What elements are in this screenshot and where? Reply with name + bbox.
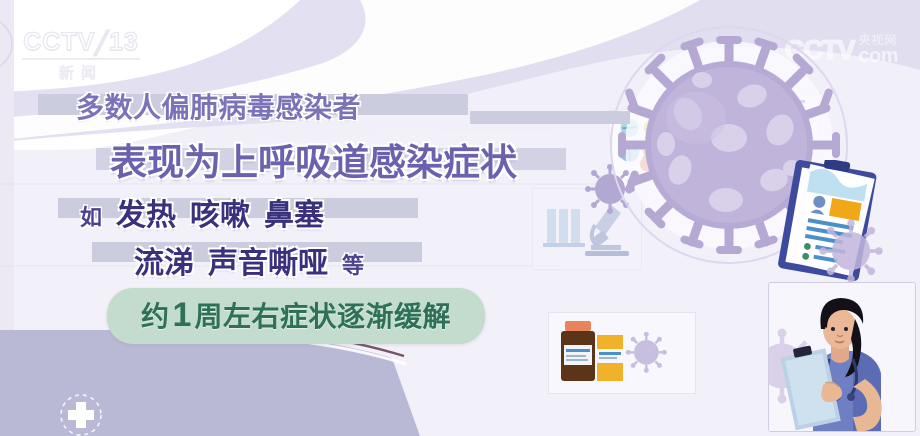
symptom-item-cough: 咳嗽 [190, 190, 250, 234]
symptom-suffix: 等 [342, 248, 364, 280]
cctv-channel-name: 新闻 [18, 62, 144, 83]
doctor-portrait-card [768, 282, 916, 432]
headline-line-2: 表现为上呼吸道感染症状 [110, 132, 600, 186]
recovery-banner: 约 1 周左右症状逐渐缓解 [107, 288, 485, 344]
small-virus-particle [818, 218, 884, 284]
headline-block: 多数人偏肺病毒感染者 表现为上呼吸道感染症状 [0, 86, 600, 186]
symptom-item-runny-nose: 流涕 [134, 238, 194, 282]
banner-suffix: 周左右症状逐渐缓解 [194, 295, 451, 335]
symptom-prefix: 如 [80, 200, 102, 232]
medicine-bottle-icon [549, 313, 695, 393]
headline-line-1: 多数人偏肺病毒感染者 [76, 86, 600, 126]
broadcast-graphic: CCTV╱13 新闻 CCTV 央视网 com [0, 0, 920, 436]
cctv-logo-text: CCTV╱13 [18, 28, 144, 57]
symptom-item-hoarseness: 声音嘶哑 [208, 238, 328, 282]
banner-number: 1 [171, 296, 194, 335]
symptom-item-nasal-congestion: 鼻塞 [264, 190, 324, 234]
symptom-item-fever: 发热 [116, 190, 176, 234]
symptom-list-block: 如 发热 咳嗽 鼻塞 流涕 声音嘶哑 等 [0, 190, 600, 282]
cctv-logo-rule [22, 58, 140, 60]
banner-prefix: 约 [141, 295, 170, 335]
female-doctor-illustration [769, 283, 915, 431]
symptom-row-1: 如 发热 咳嗽 鼻塞 [80, 190, 600, 234]
medical-cross-badge [58, 392, 104, 436]
medicine-card [548, 312, 696, 394]
cctv13-channel-logo: CCTV╱13 新闻 [18, 28, 144, 83]
symptom-row-2: 流涕 声音嘶哑 等 [134, 238, 600, 282]
medical-cross-icon [58, 392, 104, 436]
